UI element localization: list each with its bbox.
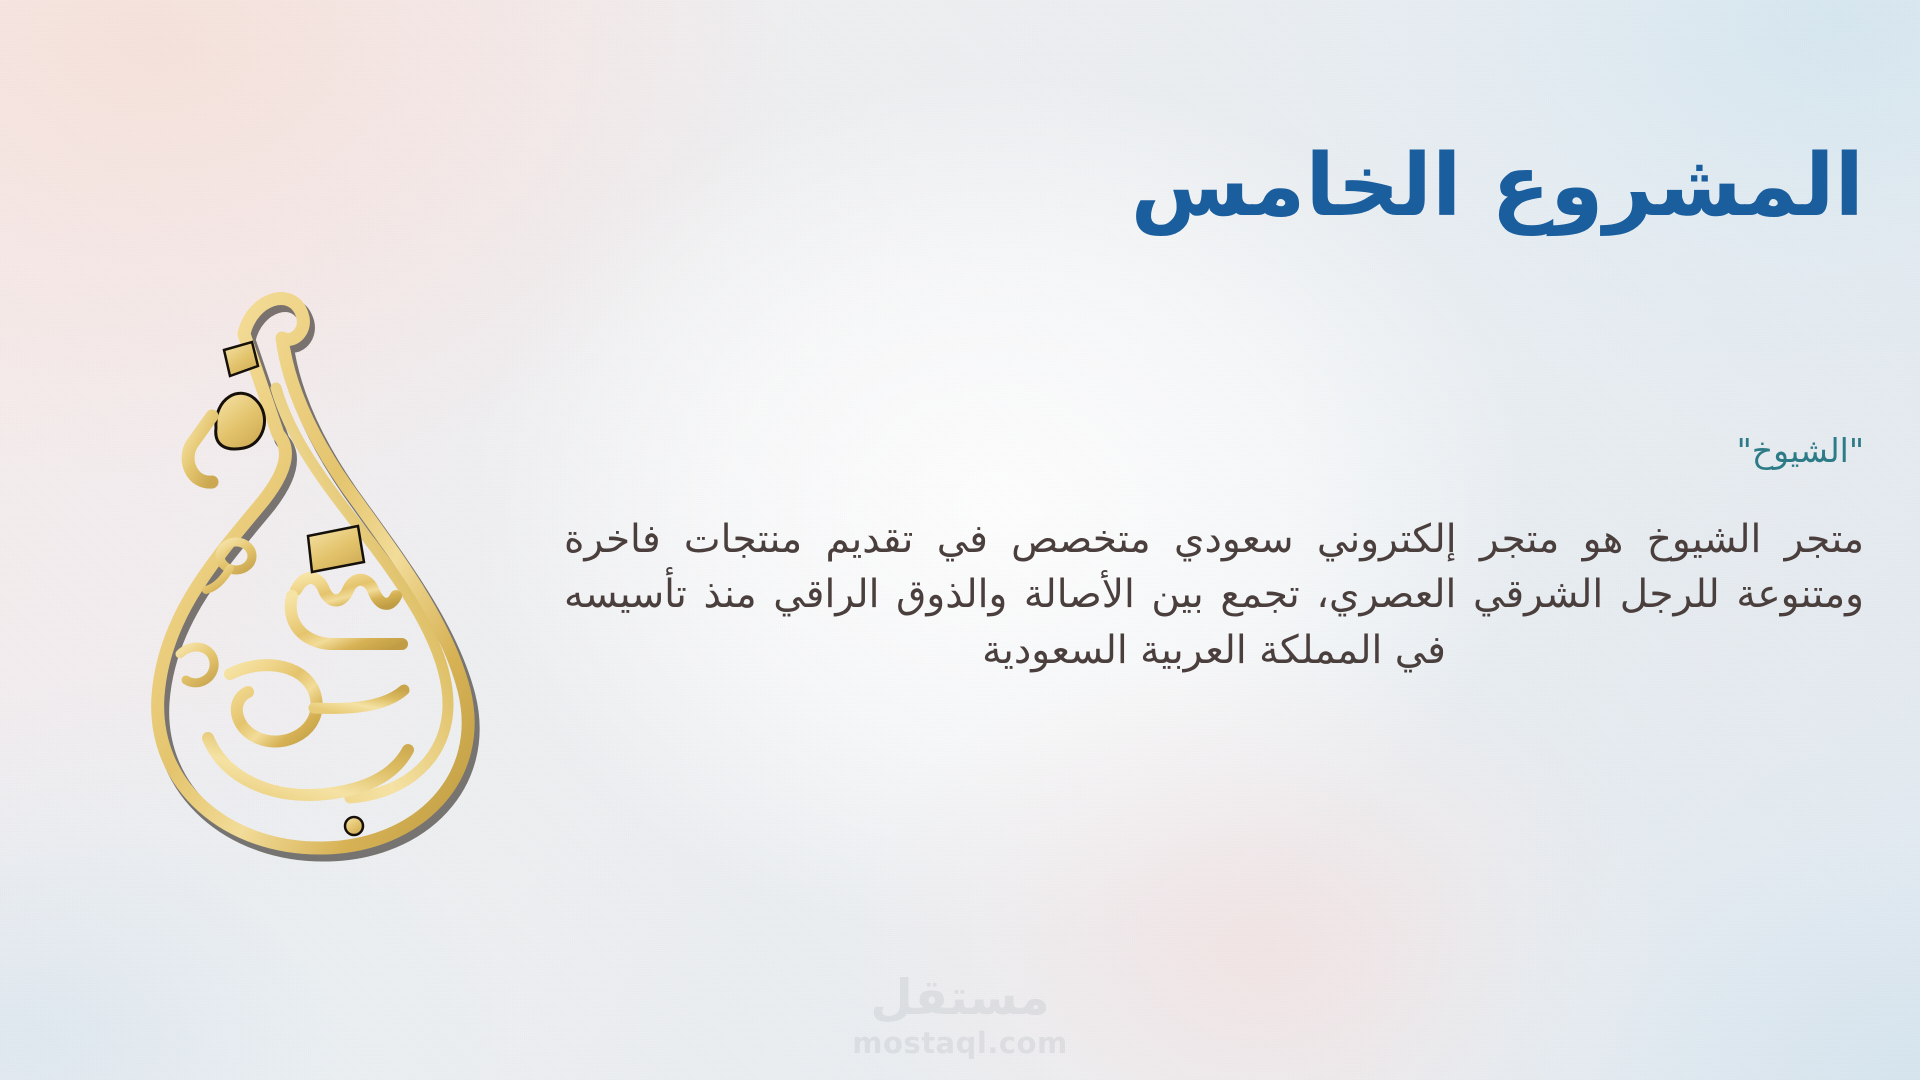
logo-shin-dots	[308, 526, 364, 572]
store-name: "الشيوخ"	[564, 430, 1864, 473]
logo-lower-sweep	[208, 738, 408, 795]
text-column: "الشيوخ" متجر الشيوخ هو متجر إلكتروني سع…	[564, 430, 1864, 717]
logo-baa-dot	[345, 817, 363, 835]
logo-lam-loop	[216, 393, 265, 449]
slide-canvas: المشروع الخامس	[0, 0, 1920, 1080]
logo-seen-teeth	[296, 578, 396, 604]
store-description: متجر الشيوخ هو متجر إلكتروني سعودي متخصص…	[564, 512, 1864, 678]
brand-logo	[96, 238, 536, 878]
logo-baseline	[314, 690, 404, 708]
logo-kha-bowl	[230, 665, 317, 741]
mostaql-domain: mostaql.com	[810, 1029, 1110, 1058]
logo-lam-tail	[188, 416, 212, 482]
slide-content: المشروع الخامس	[0, 0, 1920, 1080]
page-title: المشروع الخامس	[684, 140, 1864, 233]
mostaql-wordmark-arabic: مستقل	[810, 973, 1110, 1022]
mostaql-watermark: مستقل mostaql.com	[810, 973, 1110, 1058]
logo-hamza-hook	[180, 647, 214, 683]
arabic-calligraphy-teardrop-logo-icon	[96, 238, 536, 878]
